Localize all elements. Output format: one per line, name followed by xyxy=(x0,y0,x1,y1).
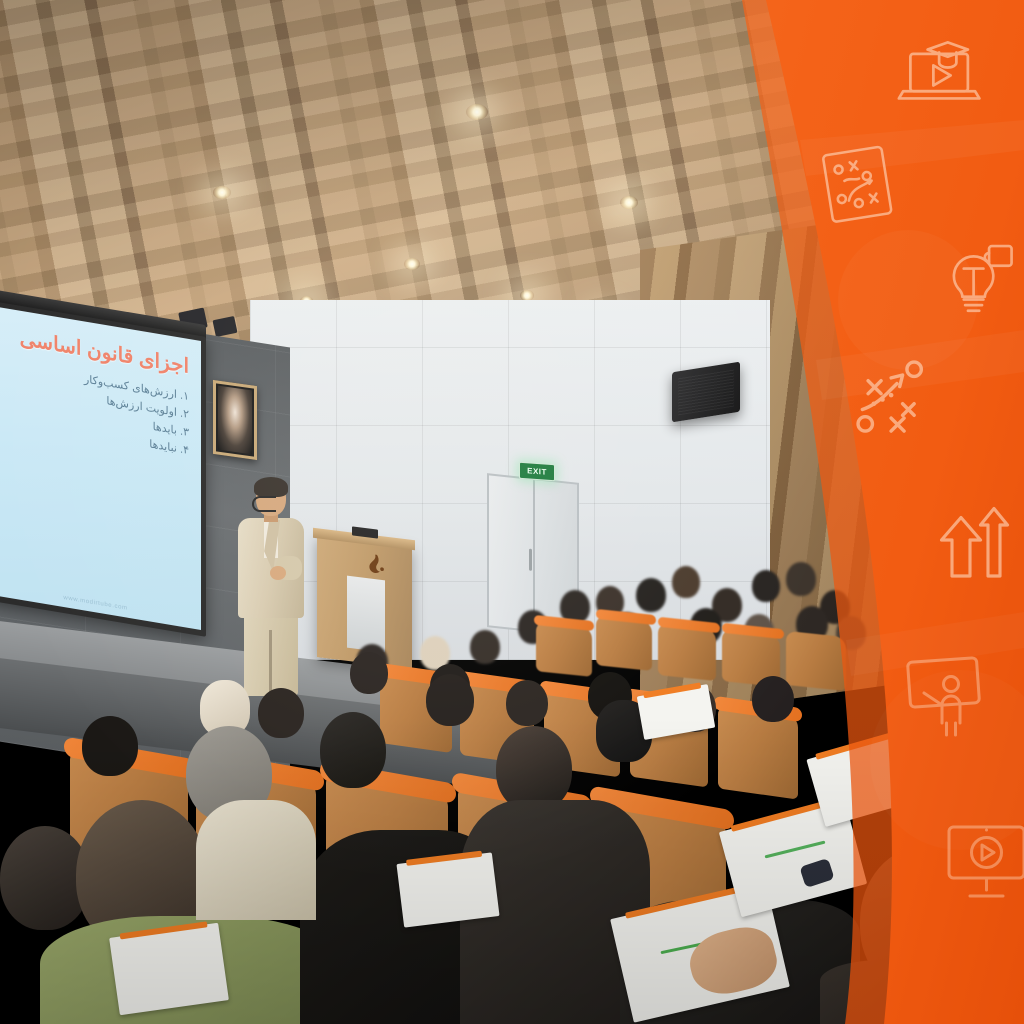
wall-portrait-frame xyxy=(213,380,257,460)
ceiling-downlight xyxy=(404,258,420,270)
auditorium-seat xyxy=(786,631,846,691)
podium-emblem-icon xyxy=(366,552,388,577)
clipboard-clip xyxy=(816,731,898,760)
ceiling-downlight xyxy=(466,104,488,120)
podium-inset-panel xyxy=(347,576,385,653)
attendee-clipboard xyxy=(109,923,229,1016)
audience-head xyxy=(506,680,548,726)
audience-head xyxy=(426,674,474,726)
clipboard-clip xyxy=(731,799,833,832)
audience-head xyxy=(350,652,388,694)
audience-head xyxy=(752,570,780,602)
audience-head xyxy=(752,676,794,722)
audience-torso xyxy=(196,800,316,920)
presenter-hair xyxy=(254,477,288,497)
audience-head xyxy=(636,578,666,612)
audience-head xyxy=(470,630,500,664)
slide-surface: اجزای قانون اساسی ۱. ارزش‌های کسب‌وکار ۲… xyxy=(0,306,201,630)
projection-screen: اجزای قانون اساسی ۱. ارزش‌های کسب‌وکار ۲… xyxy=(0,300,206,637)
audience-head xyxy=(258,688,304,738)
attendee-clipboard xyxy=(396,852,499,927)
audience-head-scarf xyxy=(320,712,386,788)
headset-microphone-icon xyxy=(252,496,276,512)
presenter-person xyxy=(236,480,310,695)
ceiling-downlight xyxy=(213,186,231,199)
audience-head xyxy=(672,566,700,598)
exit-sign: EXIT xyxy=(519,462,555,482)
presenter-leg-split xyxy=(269,630,272,696)
ceiling-downlight xyxy=(620,196,638,209)
attendee-clipboard xyxy=(806,731,925,827)
seminar-photo-canvas: اجزای قانون اساسی ۱. ارزش‌های کسب‌وکار ۲… xyxy=(0,0,1024,1024)
audience-head xyxy=(82,716,138,776)
audience-torso xyxy=(820,960,1024,1024)
door-leaf-divider xyxy=(533,480,535,630)
presenter-hand xyxy=(270,566,286,580)
audience-head xyxy=(786,562,816,596)
